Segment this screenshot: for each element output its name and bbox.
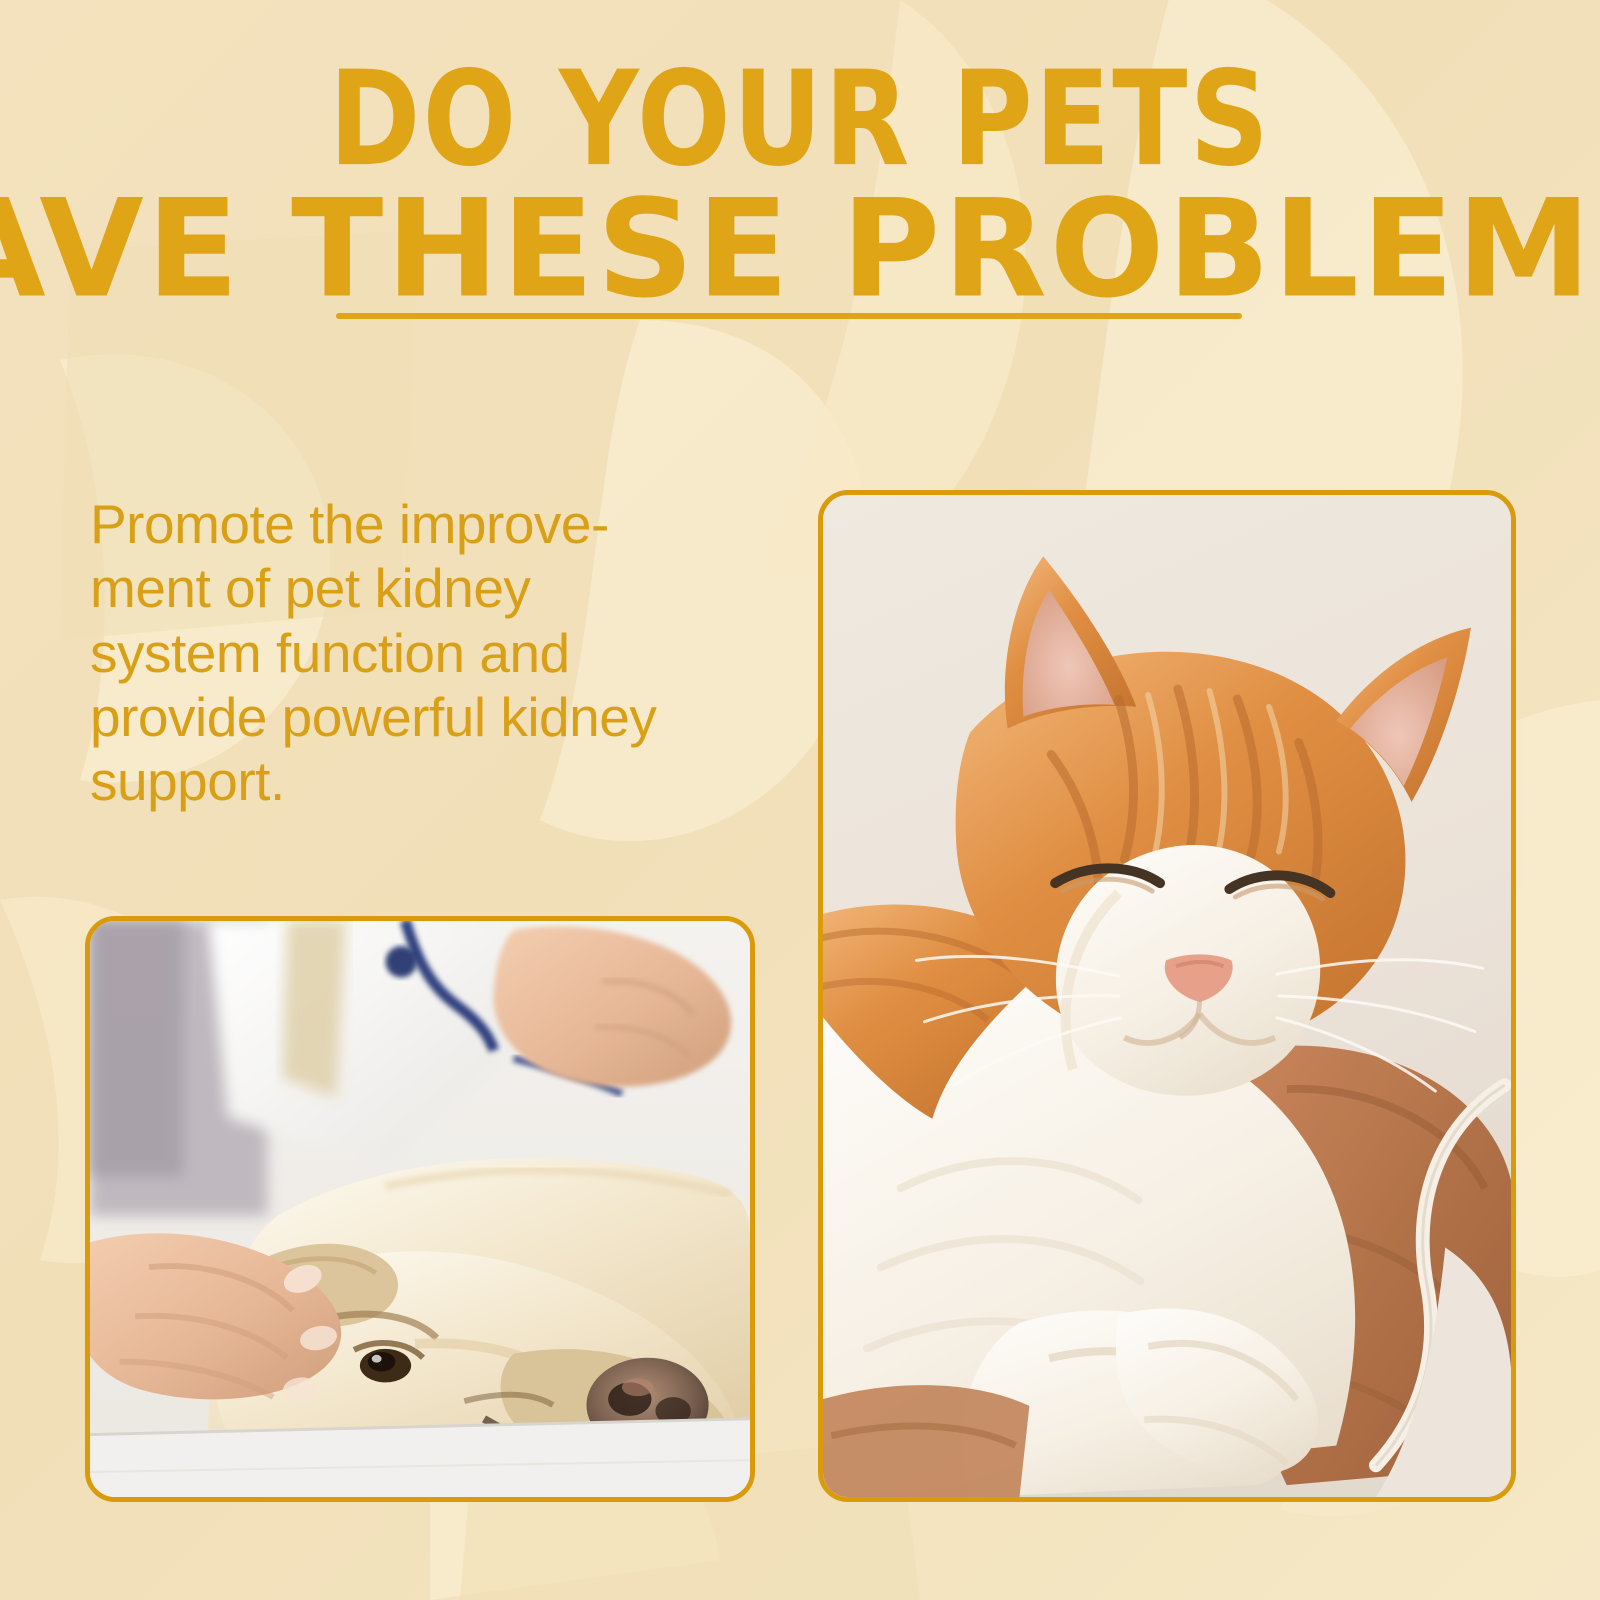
headline-line-2: HAVE THESE PROBLEMS? [0, 187, 1600, 311]
body-copy-line-2: ment of pet kidney [90, 556, 750, 620]
photo-frame-dog [85, 916, 755, 1502]
cat-resting-photo [823, 495, 1511, 1497]
headline-underline-divider [336, 313, 1242, 319]
headline-block: DO YOUR PETS HAVE THESE PROBLEMS? [0, 72, 1600, 297]
body-copy-line-1: Promote the improve- [90, 492, 750, 556]
body-copy: Promote the improve- ment of pet kidney … [90, 492, 750, 814]
dog-vet-exam-photo [90, 921, 750, 1497]
body-copy-line-3: system function and [90, 621, 750, 685]
photo-frame-cat [818, 490, 1516, 1502]
headline-line-1: DO YOUR PETS [0, 60, 1600, 181]
body-copy-line-4: provide powerful kidney [90, 685, 750, 749]
body-copy-line-5: support. [90, 749, 750, 813]
